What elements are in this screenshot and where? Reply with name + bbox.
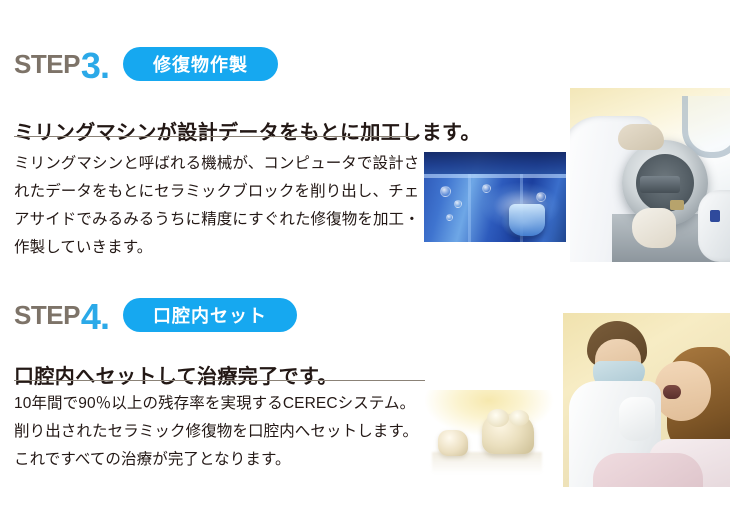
step-4-badge: 口腔内セット [123,298,297,332]
step-4-number: 4. [81,299,109,335]
step-4-divider [14,380,425,381]
bubble-1 [440,186,451,197]
step-3-section: STEP 3. 修復物作製 ミリングマシンが設計データをもとに加工します。 ミリ… [0,0,730,270]
step-3-body-line-2: れたデータをもとにセラミックブロックを削り出し、チェ [14,178,420,206]
step-3-heading: ミリングマシンが設計データをもとに加工します。 [14,123,481,143]
photo-vertical-bar-1 [468,174,471,242]
ceramic-crowns-photo [420,390,558,477]
bubble-2 [454,200,462,208]
bubble-5 [536,192,546,202]
milling-machine-photo [570,88,730,262]
step-4-body-line-3: これですべての治療が完了となります。 [14,446,418,474]
bubble-4 [446,214,453,221]
machine-logo [710,210,720,222]
step-4-body-line-1: 10年間で90％以上の残存率を実現するCERECシステム。 [14,390,418,418]
step-3-body: ミリングマシンと呼ばれる機械が、コンピュータで設計さ れたデータをもとにセラミッ… [14,150,420,262]
dentist-patient-photo [563,313,730,487]
ceramic-block-cap [509,204,545,236]
ceramic-block [670,200,684,210]
dentist-gloved-hand [619,397,655,441]
step-4-header: STEP 4. 口腔内セット [14,294,297,336]
photo-band-mid [424,174,566,178]
step-3-label: STEP [14,51,80,77]
step-3-number: 3. [81,48,109,84]
bubble-3 [482,184,491,193]
photo-band-top [424,152,566,174]
milling-closeup-photo [424,152,566,242]
step-3-body-line-1: ミリングマシンと呼ばれる機械が、コンピュータで設計さ [14,150,420,178]
technician-hand-lower [632,208,676,248]
step-3-badge: 修復物作製 [123,47,278,81]
step-3-header: STEP 3. 修復物作製 [14,43,278,85]
step-4-heading: 口腔内へセットして治療完了です。 [14,367,338,387]
machine-door [698,190,730,262]
step-3-body-line-3: アサイドでみるみるうちに精度にすぐれた修復物を加工・ [14,206,420,234]
step-3-body-line-4: 作製していきます。 [14,234,420,262]
step-4-body-line-2: 削り出されたセラミック修復物を口腔内へセットします。 [14,418,418,446]
step-3-divider [14,136,415,137]
step-4-label: STEP [14,302,80,328]
machine-spindle [640,176,680,193]
ceramic-crown-large [482,414,534,454]
patient-open-mouth [663,385,681,399]
ceramic-inlay-small [438,430,468,456]
step-4-body: 10年間で90％以上の残存率を実現するCERECシステム。 削り出されたセラミッ… [14,390,418,474]
patient-arm [593,453,703,487]
technician-hand-upper [618,124,664,150]
